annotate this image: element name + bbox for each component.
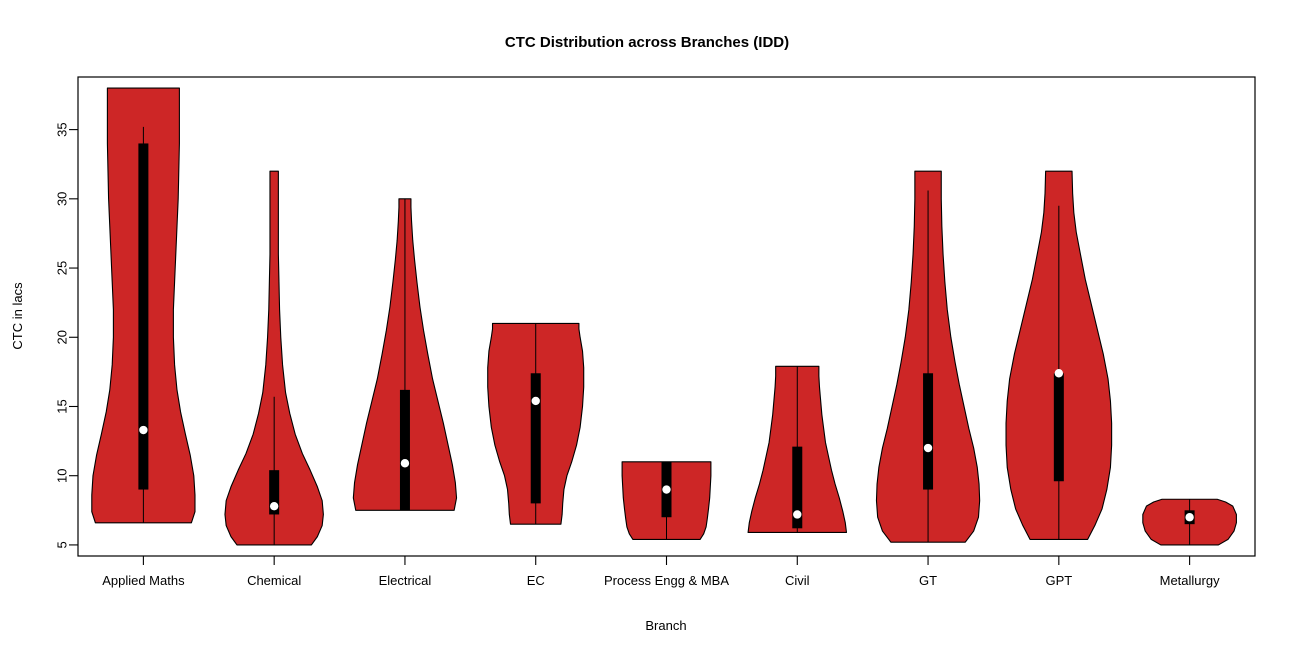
iqr-box [400,390,410,510]
iqr-box [1054,373,1064,481]
x-tick-label: Electrical [379,573,432,588]
x-tick-label: Civil [785,573,810,588]
median-marker [662,485,670,493]
median-marker [139,426,147,434]
x-tick-label: Applied Maths [102,573,185,588]
x-tick-label: Chemical [247,573,301,588]
iqr-box [138,143,148,489]
violin-group [622,462,711,540]
median-marker [1055,369,1063,377]
y-tick-label: 25 [55,261,70,275]
page-title: CTC Distribution across Branches (IDD) [505,34,789,51]
median-marker [924,444,932,452]
y-tick-label: 10 [55,468,70,482]
chart-canvas: CTC Distribution across Branches (IDD) B… [0,0,1294,653]
x-tick-label: Process Engg & MBA [604,573,729,588]
x-tick-label: EC [527,573,545,588]
y-tick-label: 35 [55,122,70,136]
y-tick-label: 30 [55,192,70,206]
iqr-box [531,373,541,503]
x-axis-title: Branch [645,618,686,633]
iqr-box [923,373,933,489]
x-tick-label: Metallurgy [1160,573,1220,588]
median-marker [401,459,409,467]
median-marker [270,502,278,510]
x-tick-label: GT [919,573,937,588]
median-marker [1185,513,1193,521]
median-marker [793,510,801,518]
violin-plot-figure: CTC Distribution across Branches (IDD) B… [0,0,1294,653]
y-axis-title: CTC in lacs [10,282,25,350]
violin-group [1143,499,1237,545]
figure-background [0,0,1294,653]
median-marker [532,397,540,405]
x-tick-label: GPT [1045,573,1072,588]
y-tick-label: 15 [55,399,70,413]
y-tick-label: 5 [55,541,70,548]
y-tick-label: 20 [55,330,70,344]
